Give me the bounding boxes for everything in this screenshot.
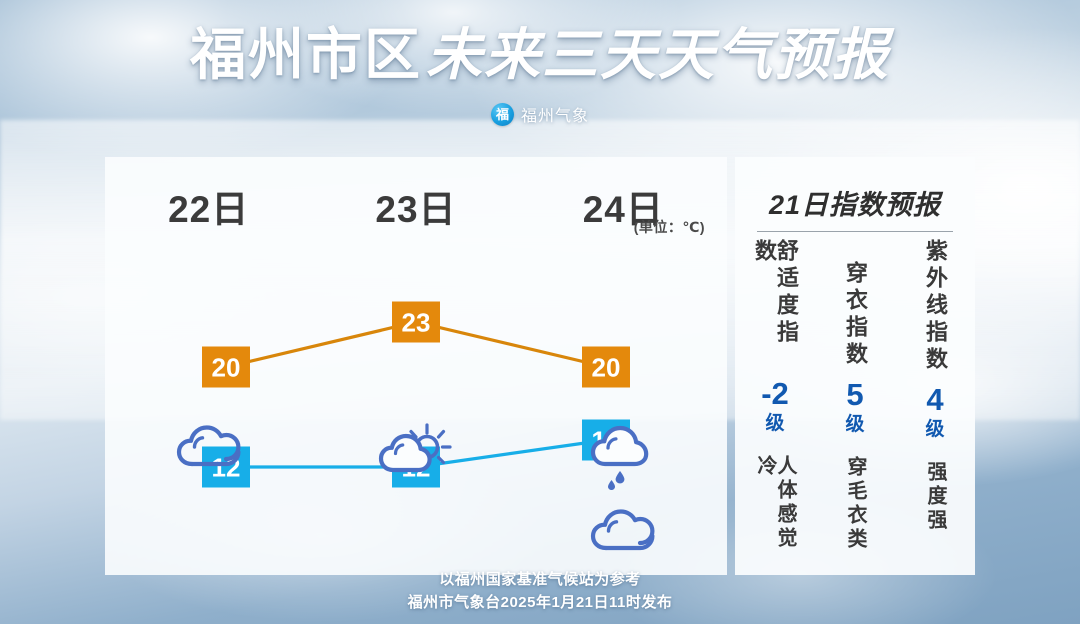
day-label: 23日: [312, 179, 519, 233]
weather-icon-column-day2: [312, 412, 519, 572]
day-label: 22日: [105, 179, 312, 233]
day-column-header-2: 23日: [312, 179, 519, 233]
index-unit: 级: [925, 420, 944, 439]
header: 福州市区未来三天天气预报 福 福州气象: [0, 22, 1080, 126]
weather-icon-column-day1: [105, 412, 312, 572]
index-forecast-panel: 21日指数预报 舒适度指数 -2 级 人体感觉冷 穿衣指数 5 级 穿毛衣类 紫…: [735, 157, 975, 575]
fuzhou-badge-icon: 福: [491, 103, 514, 126]
index-description: 强度强: [925, 461, 945, 533]
footer-reference-line: 以福州国家基准气候站为参考: [0, 568, 1080, 591]
index-description: 人体感觉冷: [755, 455, 795, 569]
title-bold-part: 福州市区: [190, 23, 422, 86]
index-description: 穿毛衣类: [845, 456, 865, 552]
footer-issuer-line: 福州市气象台2025年1月21日11时发布: [0, 591, 1080, 614]
index-item-uv: 紫外线指数 4 级 强度强: [906, 239, 964, 569]
index-name: 舒适度指数: [753, 239, 797, 368]
high-temp-box-day3: 20: [582, 347, 630, 388]
forecast-panel: 22日 23日 24日 (单位：℃) 20 23 20 12 12 14: [105, 157, 727, 575]
high-temp-box-day2: 23: [392, 302, 440, 343]
index-columns: 舒适度指数 -2 级 人体感觉冷 穿衣指数 5 级 穿毛衣类 紫外线指数 4 级…: [735, 239, 975, 569]
index-name: 紫外线指数: [924, 239, 946, 374]
weather-icons-row: [105, 412, 727, 572]
index-unit: 级: [765, 414, 784, 433]
index-name: 穿衣指数: [844, 261, 866, 369]
partly-cloudy-icon: [377, 420, 455, 482]
weather-icon-column-day3: [520, 412, 727, 572]
index-item-clothing: 穿衣指数 5 级 穿毛衣类: [826, 239, 884, 569]
index-value: 4: [926, 384, 943, 415]
index-value: 5: [846, 379, 863, 410]
page-title: 福州市区未来三天天气预报: [0, 22, 1080, 88]
brand-logo: 福 福州气象: [0, 102, 1080, 126]
cloudy-icon: [174, 420, 244, 476]
high-temp-box-day1: 20: [202, 347, 250, 388]
index-value: -2: [761, 378, 789, 409]
day-column-header-1: 22日: [105, 179, 312, 233]
title-italic-part: 未来三天天气预报: [426, 22, 890, 88]
brand-name-label: 福州气象: [521, 102, 589, 126]
footer: 以福州国家基准气候站为参考 福州市气象台2025年1月21日11时发布: [0, 568, 1080, 615]
cloudy-icon: [588, 504, 658, 560]
index-panel-title: 21日指数预报: [757, 183, 953, 232]
index-unit: 级: [845, 415, 864, 434]
rain-icon: [587, 420, 659, 494]
raindrop-2: [608, 480, 615, 490]
raindrop-1: [616, 471, 625, 483]
index-item-comfort: 舒适度指数 -2 级 人体感觉冷: [746, 239, 804, 569]
